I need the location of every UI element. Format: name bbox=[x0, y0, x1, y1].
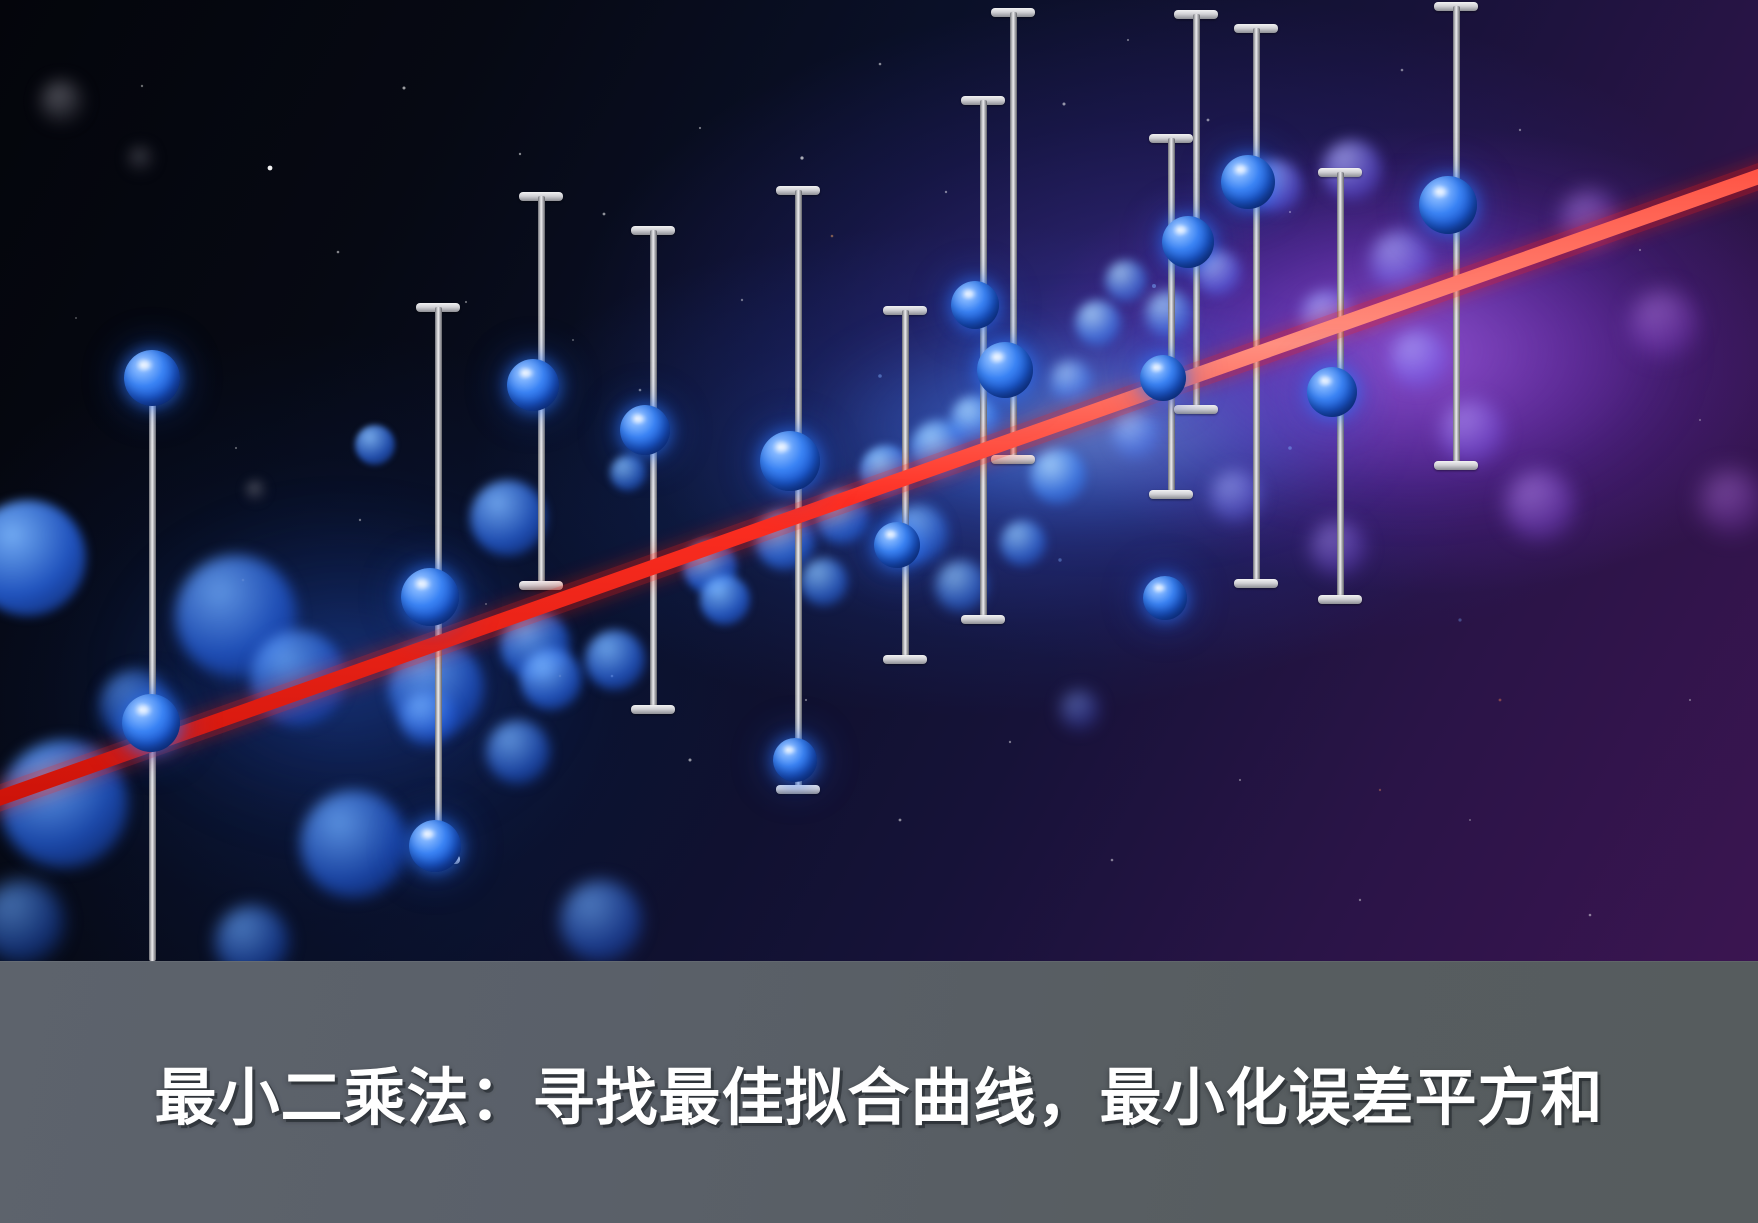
errorbar-stem bbox=[149, 378, 156, 961]
errorbar-cap-top bbox=[1149, 134, 1193, 143]
errorbar-cap-bottom bbox=[1318, 595, 1362, 604]
caption-bar: 最小二乘法：寻找最佳拟合曲线，最小化误差平方和 bbox=[0, 961, 1758, 1223]
errorbar-cap-bottom bbox=[883, 655, 927, 664]
errorbar-cap-bottom bbox=[519, 581, 563, 590]
data-point bbox=[977, 342, 1033, 398]
bokeh-sphere bbox=[1210, 470, 1262, 522]
screenshot-root: 最小二乘法：寻找最佳拟合曲线，最小化误差平方和 bbox=[0, 0, 1758, 1223]
bokeh-sphere bbox=[128, 146, 154, 172]
nebula-glow-right bbox=[1150, 200, 1670, 500]
errorbar-stem bbox=[1453, 6, 1460, 466]
bokeh-sphere bbox=[935, 560, 987, 612]
errorbar-cap-top bbox=[991, 8, 1035, 17]
regression-illustration bbox=[0, 0, 1758, 961]
errorbar-stem bbox=[1253, 28, 1260, 584]
bokeh-sphere bbox=[610, 455, 646, 491]
bokeh-sphere bbox=[585, 630, 645, 690]
errorbar bbox=[1234, 28, 1278, 584]
bokeh-sphere bbox=[388, 640, 484, 736]
errorbar-cap-top bbox=[776, 186, 820, 195]
errorbar bbox=[1434, 6, 1478, 466]
bokeh-sphere bbox=[245, 480, 267, 502]
data-point bbox=[760, 431, 820, 491]
bokeh-sphere bbox=[355, 425, 395, 465]
data-point bbox=[773, 738, 817, 782]
bokeh-sphere bbox=[1145, 290, 1193, 338]
errorbar-cap-top bbox=[1174, 10, 1218, 19]
errorbar-cap-bottom bbox=[1174, 405, 1218, 414]
data-point bbox=[1140, 355, 1186, 401]
bokeh-sphere bbox=[1630, 290, 1698, 358]
bokeh-sphere bbox=[1060, 690, 1100, 730]
bokeh-sphere bbox=[683, 540, 737, 594]
errorbar-stem bbox=[650, 230, 657, 710]
errorbar-cap-bottom bbox=[991, 455, 1035, 464]
bokeh-sphere bbox=[250, 630, 346, 726]
bokeh-sphere bbox=[1440, 400, 1504, 464]
bokeh-sphere bbox=[300, 790, 408, 898]
best-fit-line-core bbox=[0, 162, 1758, 812]
bokeh-sphere bbox=[215, 905, 289, 961]
bokeh-sphere bbox=[700, 575, 750, 625]
errorbar bbox=[631, 230, 675, 710]
errorbar-cap-bottom bbox=[1234, 579, 1278, 588]
nebula-glow-core bbox=[820, 320, 1380, 530]
bokeh-sphere bbox=[520, 648, 582, 710]
errorbar bbox=[1174, 14, 1218, 410]
errorbar-cap-bottom bbox=[1434, 461, 1478, 470]
data-point bbox=[1162, 216, 1214, 268]
best-fit-line bbox=[0, 0, 1758, 961]
bokeh-sphere bbox=[1322, 140, 1382, 200]
bokeh-sphere bbox=[0, 880, 64, 961]
bokeh-sphere bbox=[500, 610, 570, 680]
bokeh-sphere bbox=[1075, 300, 1121, 346]
bokeh-sphere bbox=[1505, 470, 1575, 540]
bokeh-sphere bbox=[0, 500, 86, 616]
data-point bbox=[1307, 367, 1357, 417]
starfield bbox=[0, 0, 1758, 961]
bokeh-sphere bbox=[0, 740, 128, 868]
errorbar-cap-bottom bbox=[631, 705, 675, 714]
errorbar-stem bbox=[1168, 138, 1175, 495]
data-point bbox=[401, 568, 459, 626]
bokeh-sphere bbox=[560, 880, 642, 961]
bokeh-sphere bbox=[910, 420, 968, 478]
errorbar-cap-bottom bbox=[961, 615, 1005, 624]
errorbar bbox=[138, 378, 166, 961]
bokeh-sphere bbox=[1112, 410, 1160, 458]
data-point bbox=[122, 694, 180, 752]
bokeh-sphere bbox=[860, 445, 912, 497]
errorbar-cap-top bbox=[416, 303, 460, 312]
bokeh-sphere bbox=[1560, 190, 1620, 250]
bokeh-sphere bbox=[755, 510, 815, 570]
errorbar-cap-top bbox=[631, 226, 675, 235]
errorbar-cap-top bbox=[1318, 168, 1362, 177]
data-point bbox=[1143, 576, 1187, 620]
errorbar bbox=[1149, 138, 1193, 495]
bokeh-sphere bbox=[1050, 360, 1092, 402]
nebula-glow-left bbox=[130, 520, 560, 820]
errorbar-cap-bottom bbox=[776, 785, 820, 794]
data-point bbox=[124, 350, 180, 406]
data-point bbox=[951, 281, 999, 329]
bokeh-sphere bbox=[486, 720, 550, 784]
bokeh-sphere bbox=[1310, 520, 1366, 576]
data-point bbox=[1419, 176, 1477, 234]
data-point bbox=[874, 522, 920, 568]
bokeh-sphere bbox=[800, 558, 848, 606]
bokeh-sphere bbox=[400, 690, 456, 746]
bokeh-sphere bbox=[1390, 330, 1448, 388]
data-point bbox=[507, 359, 559, 411]
bokeh-sphere bbox=[1370, 230, 1432, 292]
errorbar-cap-top bbox=[1234, 24, 1278, 33]
bokeh-sphere bbox=[175, 555, 297, 677]
errorbar-stem bbox=[902, 310, 909, 660]
errorbar-cap-top bbox=[883, 306, 927, 315]
caption-text: 最小二乘法：寻找最佳拟合曲线，最小化误差平方和 bbox=[154, 1047, 1603, 1137]
bokeh-sphere bbox=[1700, 470, 1758, 534]
bokeh-sphere bbox=[950, 395, 1000, 445]
errorbar-cap-top bbox=[1434, 2, 1478, 11]
bokeh-sphere bbox=[1030, 448, 1086, 504]
data-point bbox=[620, 405, 670, 455]
data-point bbox=[1221, 155, 1275, 209]
bokeh-sphere bbox=[815, 490, 869, 544]
best-fit-line-glow bbox=[0, 162, 1758, 812]
bokeh-sphere bbox=[40, 80, 84, 124]
bokeh-sphere bbox=[1000, 520, 1046, 566]
errorbar-cap-top bbox=[519, 192, 563, 201]
errorbar-cap-top bbox=[961, 96, 1005, 105]
bokeh-sphere bbox=[470, 480, 546, 556]
data-point bbox=[409, 820, 461, 872]
bokeh-sphere bbox=[1300, 290, 1356, 346]
errorbar-cap-bottom bbox=[1149, 490, 1193, 499]
errorbar-stem bbox=[1193, 14, 1200, 410]
errorbar bbox=[883, 310, 927, 660]
bokeh-sphere bbox=[1105, 260, 1147, 302]
